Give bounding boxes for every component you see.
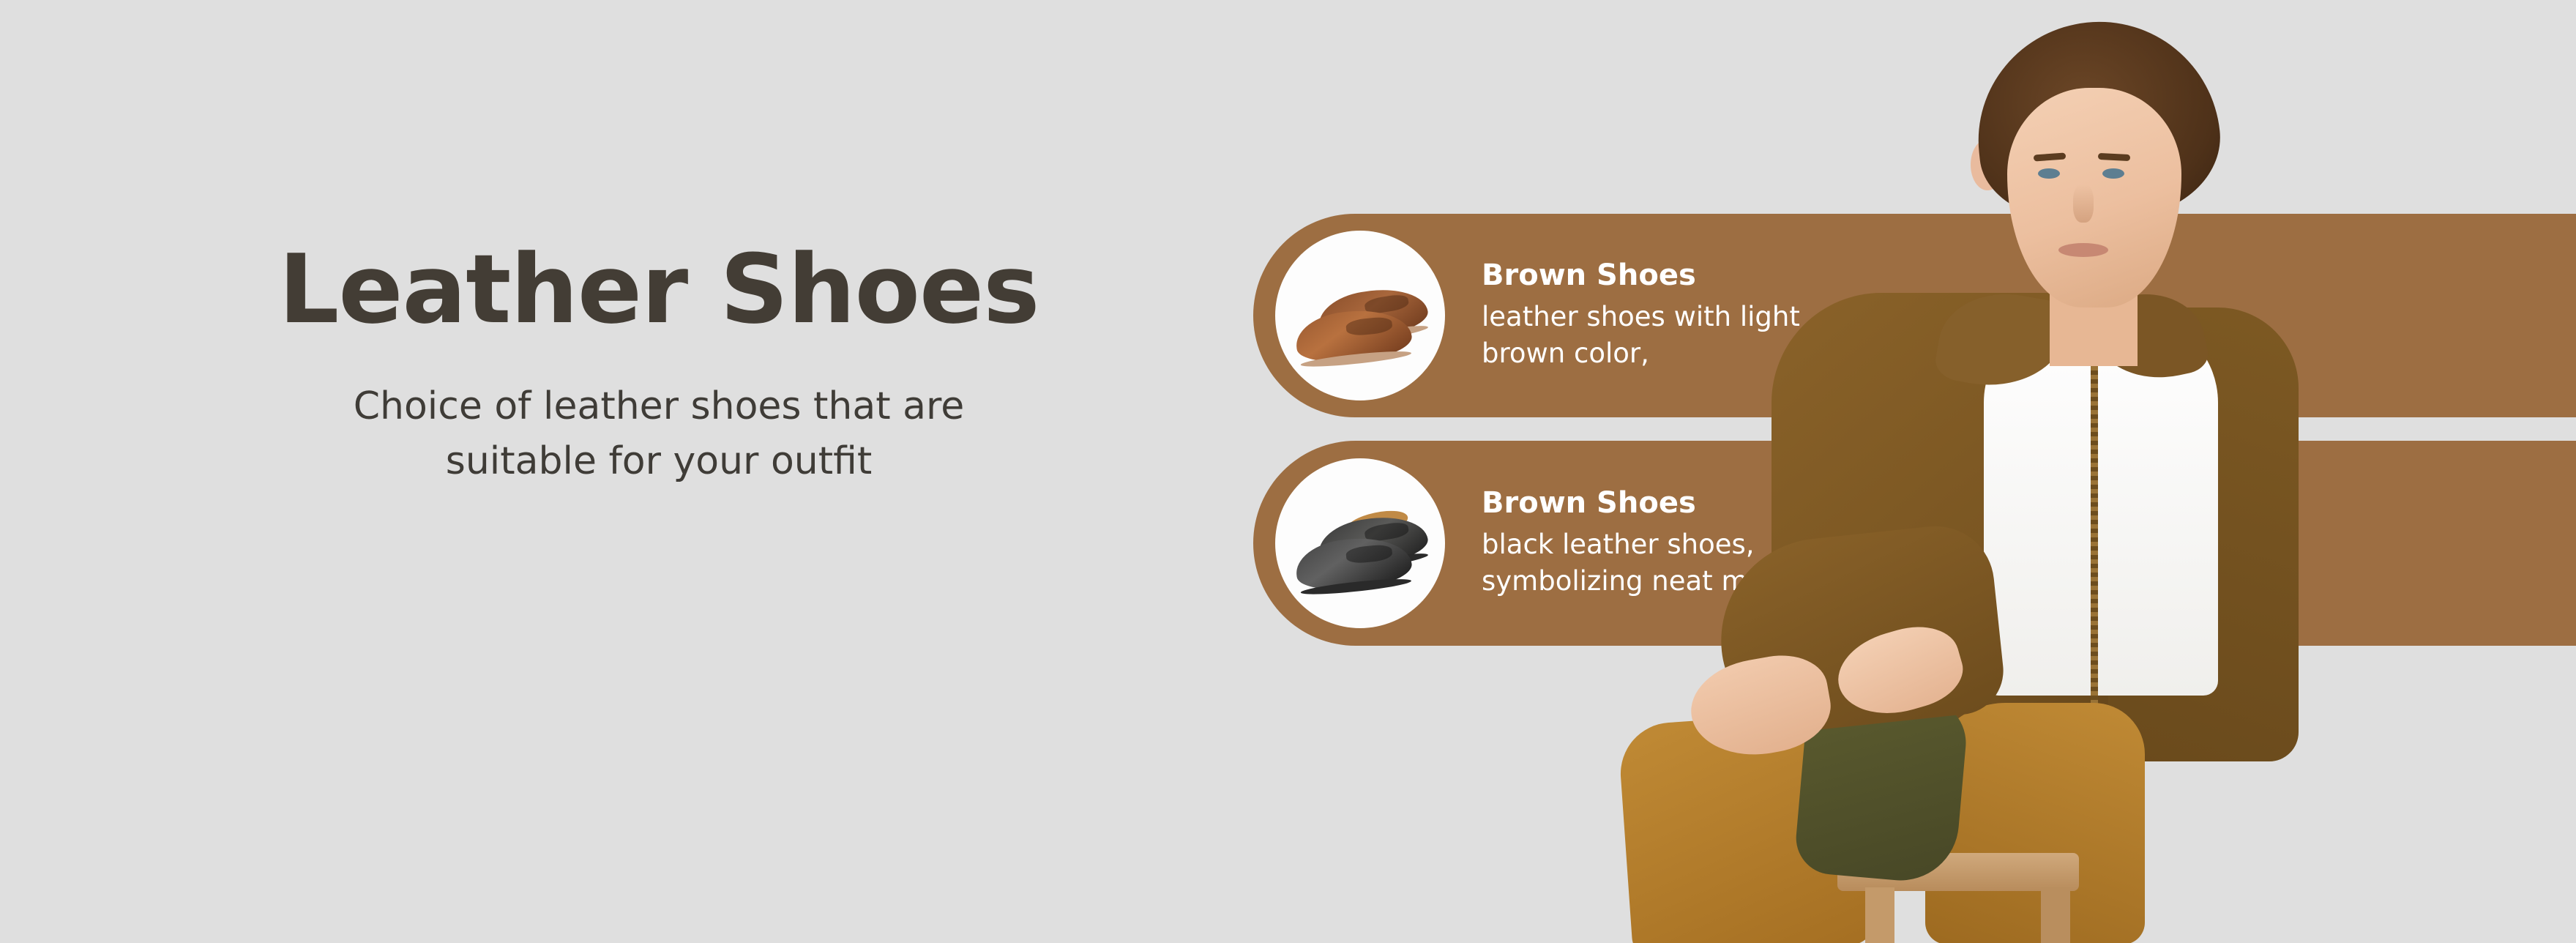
hero-copy-block: Leather Shoes Choice of leather shoes th… <box>0 242 1318 490</box>
brown-shoes-illustration <box>1275 231 1445 400</box>
stool-leg-left <box>1865 887 1894 943</box>
shoe-laces <box>1345 543 1392 564</box>
leather-shoes-hero-banner: Leather Shoes Choice of leather shoes th… <box>0 0 2576 943</box>
jacket-zipper <box>2091 344 2098 710</box>
eye-right <box>2102 168 2124 179</box>
brown-shoes-thumbnail <box>1275 231 1445 400</box>
shoe-sole <box>1300 348 1411 370</box>
stool-leg-right <box>2041 887 2070 943</box>
eye-left <box>2038 168 2060 179</box>
mouth <box>2058 243 2108 257</box>
page-title: Leather Shoes <box>0 242 1318 337</box>
black-shoes-thumbnail <box>1275 458 1445 628</box>
model-photo <box>1596 0 2328 943</box>
shoe-sole <box>1300 576 1411 597</box>
hero-subtitle: Choice of leather shoes that are suitabl… <box>337 379 981 490</box>
black-shoes-illustration <box>1275 458 1445 628</box>
face <box>2007 88 2181 307</box>
nose <box>2073 184 2094 223</box>
shoe-laces <box>1345 316 1392 337</box>
